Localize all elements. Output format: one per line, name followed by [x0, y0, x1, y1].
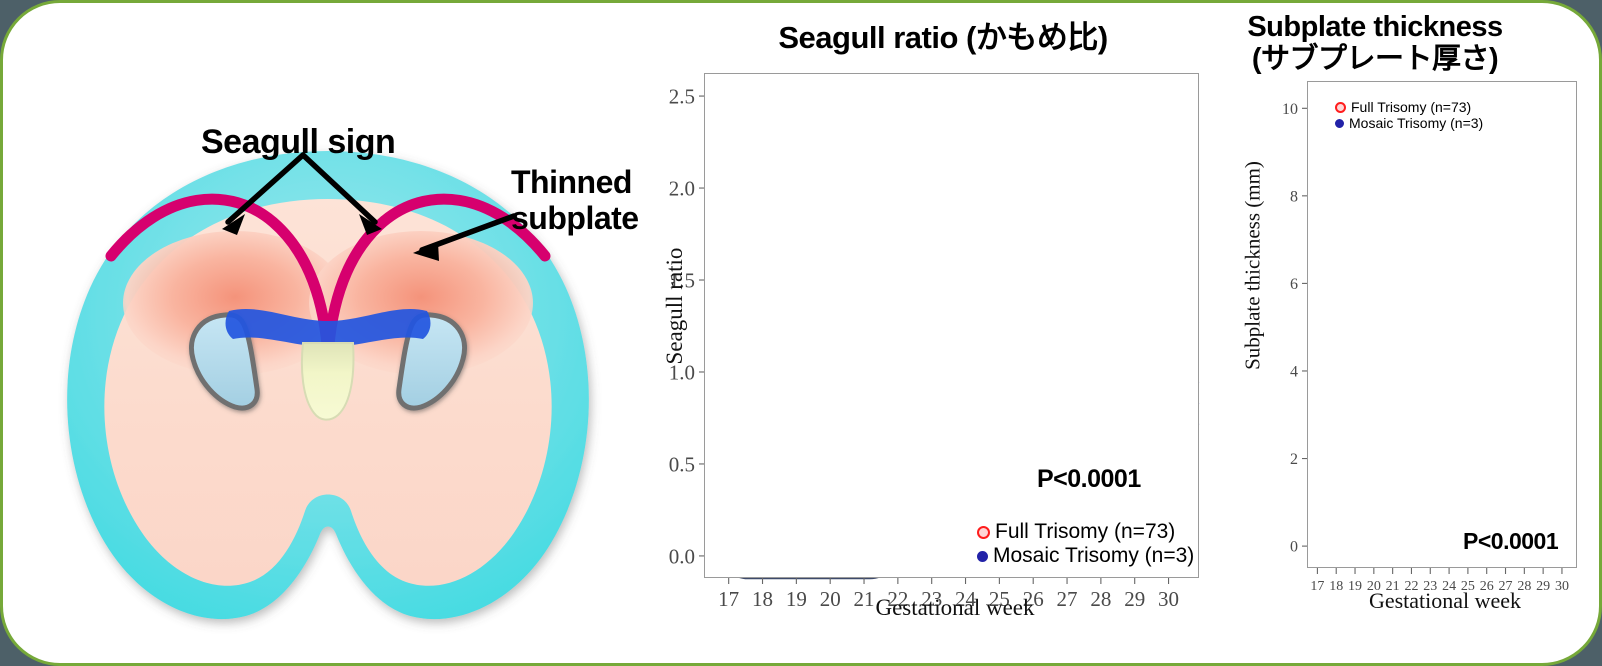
label-thinned-subplate-line2: subplate: [511, 201, 639, 237]
x-tick-label: 28: [1090, 587, 1111, 611]
subplate-y-axis-label: Subplate thickness (mm): [1241, 96, 1266, 436]
x-tick-label: 19: [786, 587, 807, 611]
open-circle-marker-icon: [1335, 102, 1346, 113]
seagull-x-axis-label: Gestational week: [825, 595, 1085, 621]
y-tick-label: 0.0: [669, 544, 695, 568]
y-tick-label: 8: [1290, 188, 1298, 205]
legend-label-mosaic-trisomy: Mosaic Trisomy (n=3): [1349, 115, 1483, 131]
y-tick-label: 2.5: [669, 84, 695, 108]
brain-diagram: [3, 3, 653, 666]
legend-item-mosaic-trisomy: Mosaic Trisomy (n=3): [1335, 115, 1483, 131]
x-tick-label: 29: [1124, 587, 1145, 611]
label-seagull-sign: Seagull sign: [201, 123, 395, 161]
x-tick-label: 17: [718, 587, 739, 611]
subplate-x-axis-label: Gestational week: [1315, 588, 1575, 614]
legend-label-full-trisomy: Full Trisomy (n=73): [1351, 99, 1471, 115]
filled-circle-marker-icon: [977, 551, 988, 562]
seagull-plot-frame: [704, 73, 1199, 578]
x-tick-label: 18: [752, 587, 773, 611]
subplate-legend: Full Trisomy (n=73) Mosaic Trisomy (n=3): [1335, 99, 1483, 131]
y-tick-label: 6: [1290, 276, 1298, 293]
subplate-thickness-chart: 17181920212223242526272829300246810 Subp…: [1215, 3, 1602, 666]
subplate-p-value: P<0.0001: [1463, 528, 1558, 555]
seagull-y-axis-label: Seagull ratio: [662, 126, 688, 486]
y-tick-label: 0: [1290, 539, 1298, 556]
seagull-legend: Full Trisomy (n=73) Mosaic Trisomy (n=3): [977, 520, 1194, 568]
brain-illustration-panel: Seagull sign Thinned subplate: [3, 3, 653, 666]
filled-circle-marker-icon: [1335, 119, 1344, 128]
subplate-plot-frame: [1307, 81, 1577, 568]
figure-root: Seagull sign Thinned subplate Seagull ra…: [0, 0, 1602, 666]
legend-item-mosaic-trisomy: Mosaic Trisomy (n=3): [977, 544, 1194, 568]
x-tick-label: 30: [1158, 587, 1179, 611]
y-tick-label: 4: [1290, 364, 1298, 381]
legend-item-full-trisomy: Full Trisomy (n=73): [977, 520, 1194, 544]
legend-label-mosaic-trisomy: Mosaic Trisomy (n=3): [993, 544, 1194, 568]
legend-label-full-trisomy: Full Trisomy (n=73): [995, 520, 1175, 544]
open-circle-marker-icon: [977, 526, 990, 539]
label-thinned-subplate-line1: Thinned: [511, 165, 639, 201]
y-tick-label: 10: [1282, 101, 1298, 118]
seagull-ratio-chart: 17181920212223242526272829300.00.51.01.5…: [655, 3, 1215, 666]
seagull-p-value: P<0.0001: [1037, 465, 1141, 494]
label-thinned-subplate: Thinned subplate: [511, 165, 639, 237]
midline-structures: [191, 309, 464, 420]
y-tick-label: 2: [1290, 451, 1298, 468]
legend-item-full-trisomy: Full Trisomy (n=73): [1335, 99, 1483, 115]
